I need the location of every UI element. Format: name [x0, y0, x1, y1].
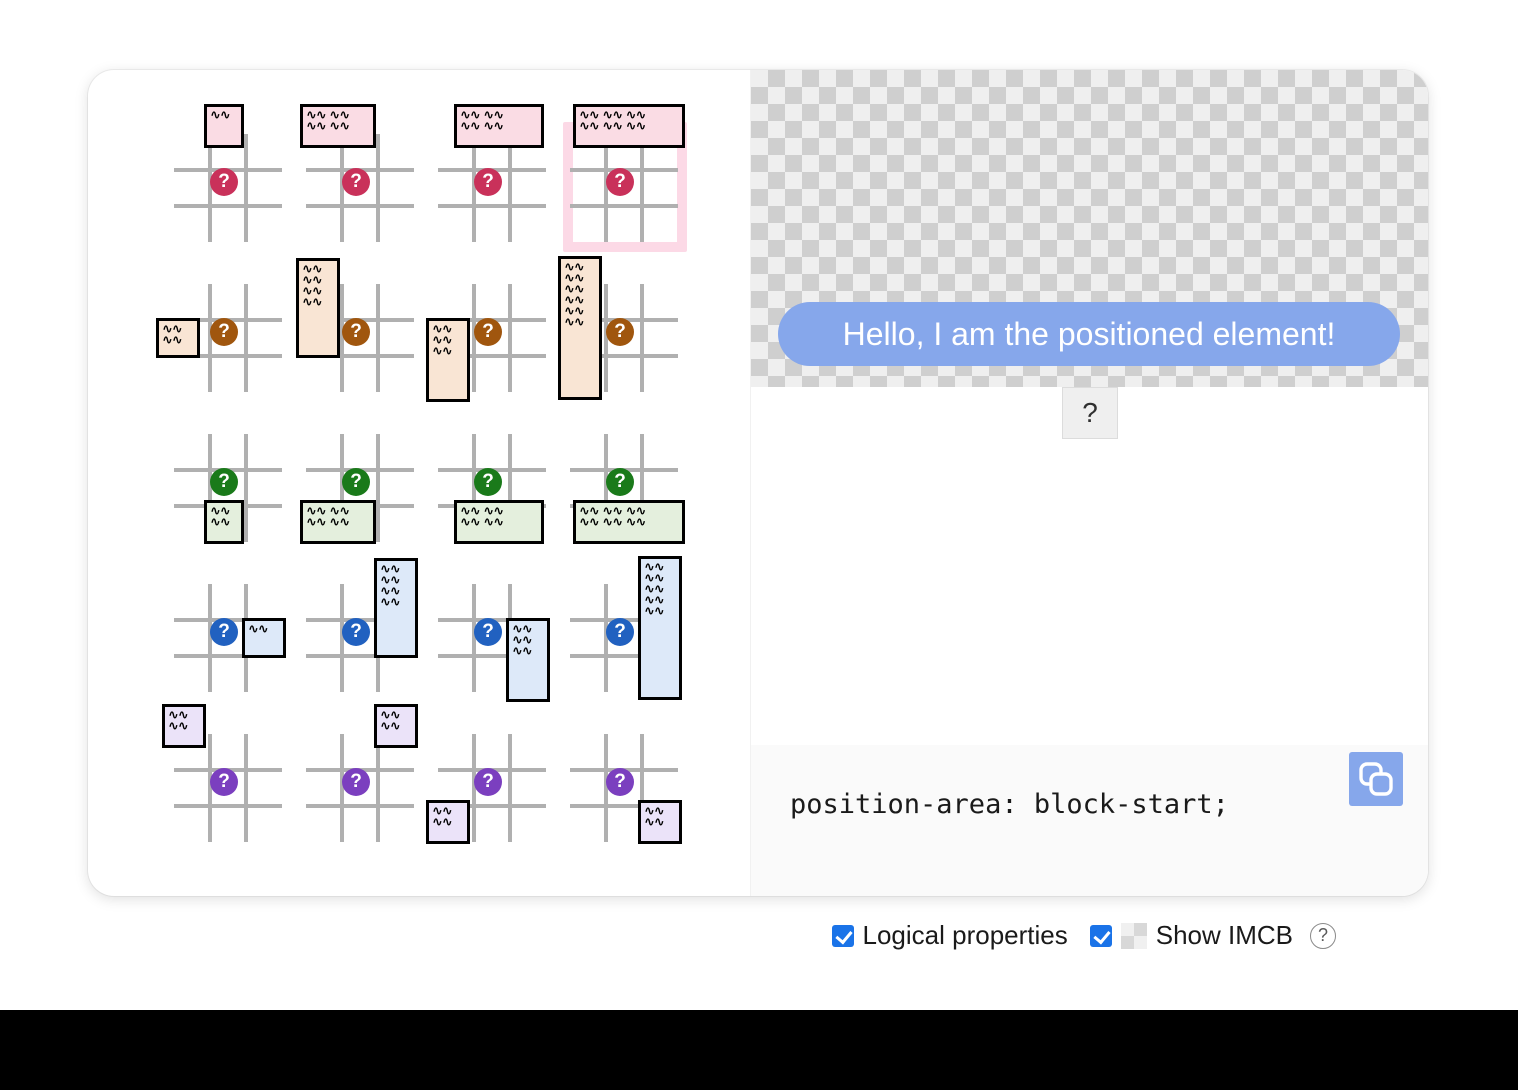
position-area-option-grid[interactable]: ∿∿?∿∿ ∿∿∿∿ ∿∿?∿∿ ∿∿∿∿ ∿∿?∿∿ ∿∿ ∿∿∿∿ ∿∿ ∿…: [166, 130, 696, 866]
grid-line: [438, 204, 546, 208]
wave-text-line: ∿∿: [210, 517, 239, 528]
show-imcb-control[interactable]: Show IMCB ?: [1090, 920, 1336, 951]
position-area-option[interactable]: ∿∿∿∿∿∿∿∿∿∿?: [562, 580, 694, 716]
css-declaration-text: position-area: block-start;: [790, 789, 1229, 820]
grid-line: [508, 134, 512, 242]
wave-text-line: ∿∿ ∿∿: [460, 121, 539, 132]
position-area-option[interactable]: ∿∿∿∿?: [166, 280, 298, 416]
wave-text-line: ∿∿ ∿∿: [460, 517, 539, 528]
show-imcb-label: Show IMCB: [1156, 920, 1293, 951]
grid-line: [174, 804, 282, 808]
copy-icon: [1349, 761, 1403, 797]
wave-text-line: ∿∿: [432, 346, 465, 357]
position-area-option[interactable]: ∿∿∿∿?: [430, 730, 562, 866]
preview-canvas: Hello, I am the positioned element!: [751, 70, 1428, 387]
wave-text-line: ∿∿: [432, 817, 465, 828]
position-area-option[interactable]: ∿∿∿∿∿∿∿∿∿∿∿∿?: [562, 280, 694, 416]
wave-text-line: ∿∿: [210, 110, 239, 121]
position-area-option[interactable]: ∿∿∿∿∿∿?: [430, 280, 562, 416]
anchor-marker: ?: [210, 168, 238, 196]
logical-properties-control[interactable]: Logical properties: [832, 920, 1068, 951]
code-output-pane: position-area: block-start;: [751, 745, 1428, 896]
app-root: ∿∿?∿∿ ∿∿∿∿ ∿∿?∿∿ ∿∿∿∿ ∿∿?∿∿ ∿∿ ∿∿∿∿ ∿∿ ∿…: [0, 0, 1518, 1090]
position-area-option[interactable]: ∿∿∿∿?: [298, 730, 430, 866]
positioned-element-preview: ∿∿∿∿: [638, 800, 682, 844]
positioned-element-preview: ∿∿∿∿∿∿∿∿: [374, 558, 418, 658]
anchor-marker: ?: [342, 168, 370, 196]
anchor-marker: ?: [210, 468, 238, 496]
grid-line: [508, 284, 512, 392]
position-area-option[interactable]: ∿∿ ∿∿∿∿ ∿∿?: [298, 430, 430, 566]
grid-line: [376, 434, 380, 542]
anchor-marker: ?: [474, 768, 502, 796]
wave-text-line: ∿∿: [162, 335, 195, 346]
wave-text-line: ∿∿: [644, 817, 677, 828]
position-area-option[interactable]: ∿∿ ∿∿∿∿ ∿∿?: [430, 430, 562, 566]
grid-line: [376, 134, 380, 242]
position-area-option[interactable]: ∿∿∿∿?: [166, 430, 298, 566]
position-area-option[interactable]: ∿∿∿∿∿∿?: [430, 580, 562, 716]
anchor-marker: ?: [474, 168, 502, 196]
position-area-option[interactable]: ∿∿ ∿∿∿∿ ∿∿?: [298, 130, 430, 266]
positioned-element-preview: ∿∿∿∿∿∿∿∿∿∿: [638, 556, 682, 700]
wave-text-line: ∿∿: [564, 317, 597, 328]
anchor-marker: ?: [210, 618, 238, 646]
positioned-element-preview: ∿∿ ∿∿ ∿∿∿∿ ∿∿ ∿∿: [573, 500, 685, 544]
position-area-option[interactable]: ∿∿∿∿?: [166, 730, 298, 866]
position-area-option[interactable]: ∿∿?: [166, 130, 298, 266]
positioned-element-preview: ∿∿ ∿∿ ∿∿∿∿ ∿∿ ∿∿: [573, 104, 685, 148]
anchor-marker: ?: [474, 468, 502, 496]
positioned-element-preview: ∿∿∿∿∿∿: [426, 318, 470, 402]
copy-button[interactable]: [1349, 752, 1403, 806]
screen-bottom-band: [0, 1010, 1518, 1090]
position-area-option[interactable]: ∿∿∿∿∿∿∿∿?: [298, 280, 430, 416]
position-area-option[interactable]: ∿∿∿∿?: [562, 730, 694, 866]
positioned-element-tooltip: Hello, I am the positioned element!: [778, 302, 1400, 366]
anchor-marker: ?: [606, 468, 634, 496]
preview-and-code-panel: Hello, I am the positioned element! ? po…: [750, 70, 1428, 896]
positioned-element-preview: ∿∿: [242, 618, 286, 658]
wave-text-line: ∿∿ ∿∿: [306, 121, 371, 132]
wave-text-line: ∿∿: [644, 606, 677, 617]
position-area-option[interactable]: ∿∿ ∿∿ ∿∿∿∿ ∿∿ ∿∿?: [562, 430, 694, 566]
wave-text-line: ∿∿: [512, 646, 545, 657]
anchor-marker: ?: [342, 768, 370, 796]
wave-text-line: ∿∿ ∿∿ ∿∿: [579, 121, 680, 132]
anchor-marker: ?: [342, 618, 370, 646]
grid-line: [508, 734, 512, 842]
grid-line: [376, 734, 380, 842]
grid-line: [376, 284, 380, 392]
position-area-option[interactable]: ∿∿ ∿∿∿∿ ∿∿?: [430, 130, 562, 266]
anchor-marker: ?: [474, 318, 502, 346]
wave-text-line: ∿∿: [248, 624, 281, 635]
positioned-element-preview: ∿∿: [204, 104, 244, 148]
positioned-element-preview: ∿∿ ∿∿∿∿ ∿∿: [300, 500, 376, 544]
positioned-element-preview: ∿∿∿∿: [374, 704, 418, 748]
positioned-element-preview: ∿∿∿∿∿∿∿∿∿∿∿∿: [558, 256, 602, 400]
position-area-option[interactable]: ∿∿ ∿∿ ∿∿∿∿ ∿∿ ∿∿?: [562, 130, 694, 266]
show-imcb-checkbox[interactable]: [1090, 925, 1112, 947]
grid-line: [244, 434, 248, 542]
position-area-option[interactable]: ∿∿∿∿∿∿∿∿?: [298, 580, 430, 716]
position-area-card: ∿∿?∿∿ ∿∿∿∿ ∿∿?∿∿ ∿∿∿∿ ∿∿?∿∿ ∿∿ ∿∿∿∿ ∿∿ ∿…: [88, 70, 1428, 896]
positioned-element-preview: ∿∿∿∿: [204, 500, 244, 544]
anchor-marker: ?: [342, 318, 370, 346]
wave-text-line: ∿∿ ∿∿: [306, 517, 371, 528]
anchor-marker: ?: [606, 318, 634, 346]
grid-line: [174, 204, 282, 208]
positioned-element-preview: ∿∿∿∿: [162, 704, 206, 748]
positioned-element-preview: ∿∿∿∿: [426, 800, 470, 844]
grid-line: [306, 804, 414, 808]
position-area-picker-panel: ∿∿?∿∿ ∿∿∿∿ ∿∿?∿∿ ∿∿∿∿ ∿∿?∿∿ ∿∿ ∿∿∿∿ ∿∿ ∿…: [88, 70, 750, 896]
anchor-marker: ?: [210, 318, 238, 346]
positioned-element-preview: ∿∿ ∿∿∿∿ ∿∿: [300, 104, 376, 148]
logical-properties-label: Logical properties: [863, 920, 1068, 951]
grid-line: [306, 204, 414, 208]
checkerboard-swatch-icon: [1121, 923, 1147, 949]
wave-text-line: ∿∿: [380, 597, 413, 608]
grid-line: [244, 134, 248, 242]
anchor-marker: ?: [474, 618, 502, 646]
positioned-element-preview: ∿∿∿∿∿∿: [506, 618, 550, 702]
anchor-marker: ?: [210, 768, 238, 796]
positioned-element-preview: ∿∿∿∿: [156, 318, 200, 358]
anchor-marker: ?: [342, 468, 370, 496]
grid-line: [640, 284, 644, 392]
wave-text-line: ∿∿: [380, 721, 413, 732]
position-area-option[interactable]: ∿∿?: [166, 580, 298, 716]
logical-properties-checkbox[interactable]: [832, 925, 854, 947]
anchor-marker: ?: [606, 618, 634, 646]
wave-text-line: ∿∿ ∿∿ ∿∿: [579, 517, 680, 528]
anchor-marker: ?: [606, 168, 634, 196]
anchor-element-box[interactable]: ?: [1062, 387, 1118, 439]
grid-line: [244, 284, 248, 392]
help-icon[interactable]: ?: [1310, 923, 1336, 949]
positioned-element-preview: ∿∿ ∿∿∿∿ ∿∿: [454, 104, 544, 148]
grid-line: [570, 204, 678, 208]
wave-text-line: ∿∿: [302, 297, 335, 308]
wave-text-line: ∿∿: [168, 721, 201, 732]
settings-controls-bar: Logical properties Show IMCB ?: [0, 920, 1428, 951]
anchor-marker: ?: [606, 768, 634, 796]
grid-line: [244, 734, 248, 842]
grid-line: [640, 134, 644, 242]
positioned-element-preview: ∿∿ ∿∿∿∿ ∿∿: [454, 500, 544, 544]
positioned-element-preview: ∿∿∿∿∿∿∿∿: [296, 258, 340, 358]
